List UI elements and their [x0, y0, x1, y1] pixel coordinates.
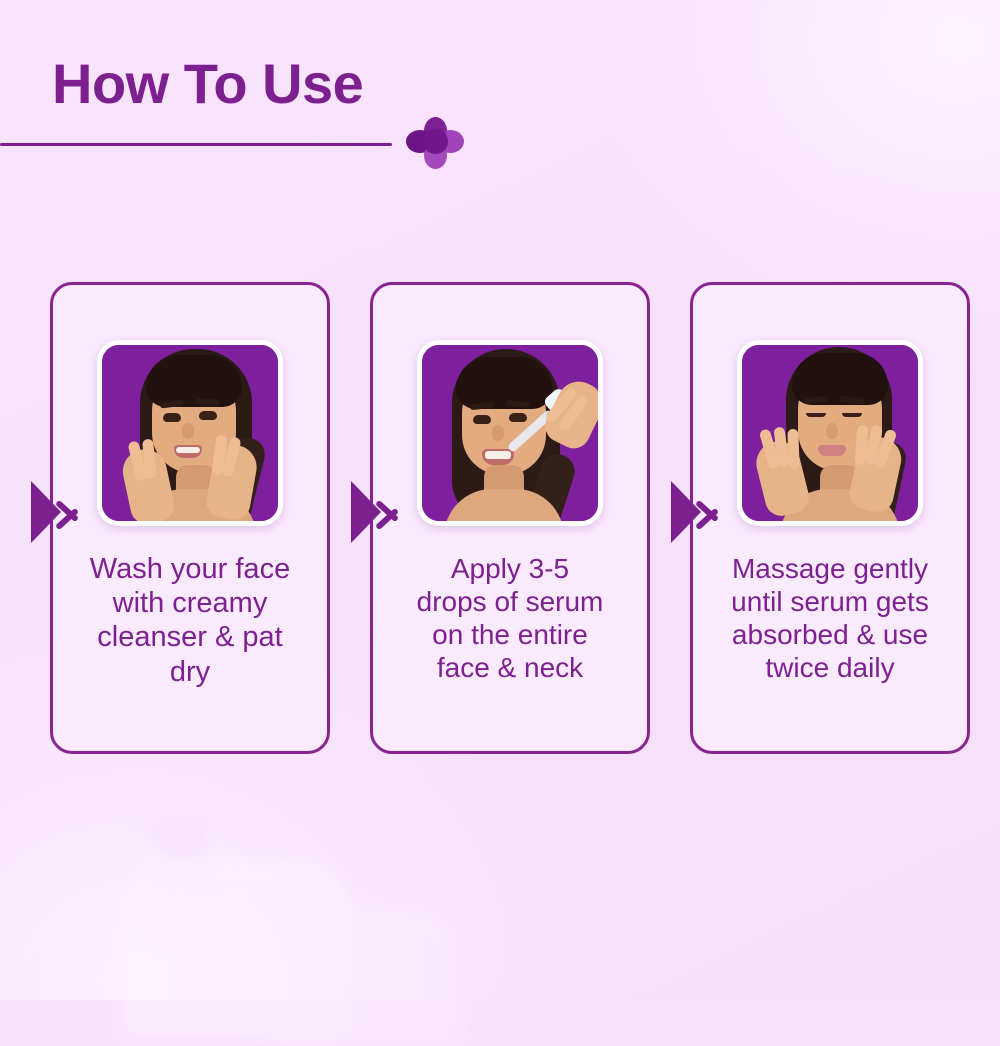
- watermark-bottle-neck: [146, 830, 218, 890]
- chevron-right-icon: [351, 481, 403, 543]
- how-to-use-infographic: How To Use: [0, 0, 1000, 1000]
- step-image-1: [97, 340, 283, 526]
- chevron-right-icon: [671, 481, 723, 543]
- chevron-right-icon: [31, 481, 83, 543]
- step-image-2: [417, 340, 603, 526]
- page-title: How To Use: [52, 52, 363, 116]
- product-bottle-watermark: [110, 810, 360, 1040]
- watermark-bottle-cap: [154, 820, 208, 854]
- step-image-3: [737, 340, 923, 526]
- title-underline: [0, 143, 392, 146]
- step-card-3[interactable]: Massage gently until serum gets absorbed…: [690, 282, 970, 754]
- step-caption-1: Wash your face with creamy cleanser & pa…: [76, 552, 304, 689]
- header: How To Use: [0, 0, 1000, 190]
- watermark-bottle-body: [120, 860, 350, 1040]
- steps-row: Wash your face with creamy cleanser & pa…: [0, 282, 1000, 760]
- step-caption-3: Massage gently until serum gets absorbed…: [717, 552, 943, 684]
- step-caption-2: Apply 3-5 drops of serum on the entire f…: [403, 552, 618, 684]
- step-card-2[interactable]: Apply 3-5 drops of serum on the entire f…: [370, 282, 650, 754]
- watermark-box: [260, 906, 460, 1046]
- clover-plus-icon: [406, 117, 464, 169]
- step-card-1[interactable]: Wash your face with creamy cleanser & pa…: [50, 282, 330, 754]
